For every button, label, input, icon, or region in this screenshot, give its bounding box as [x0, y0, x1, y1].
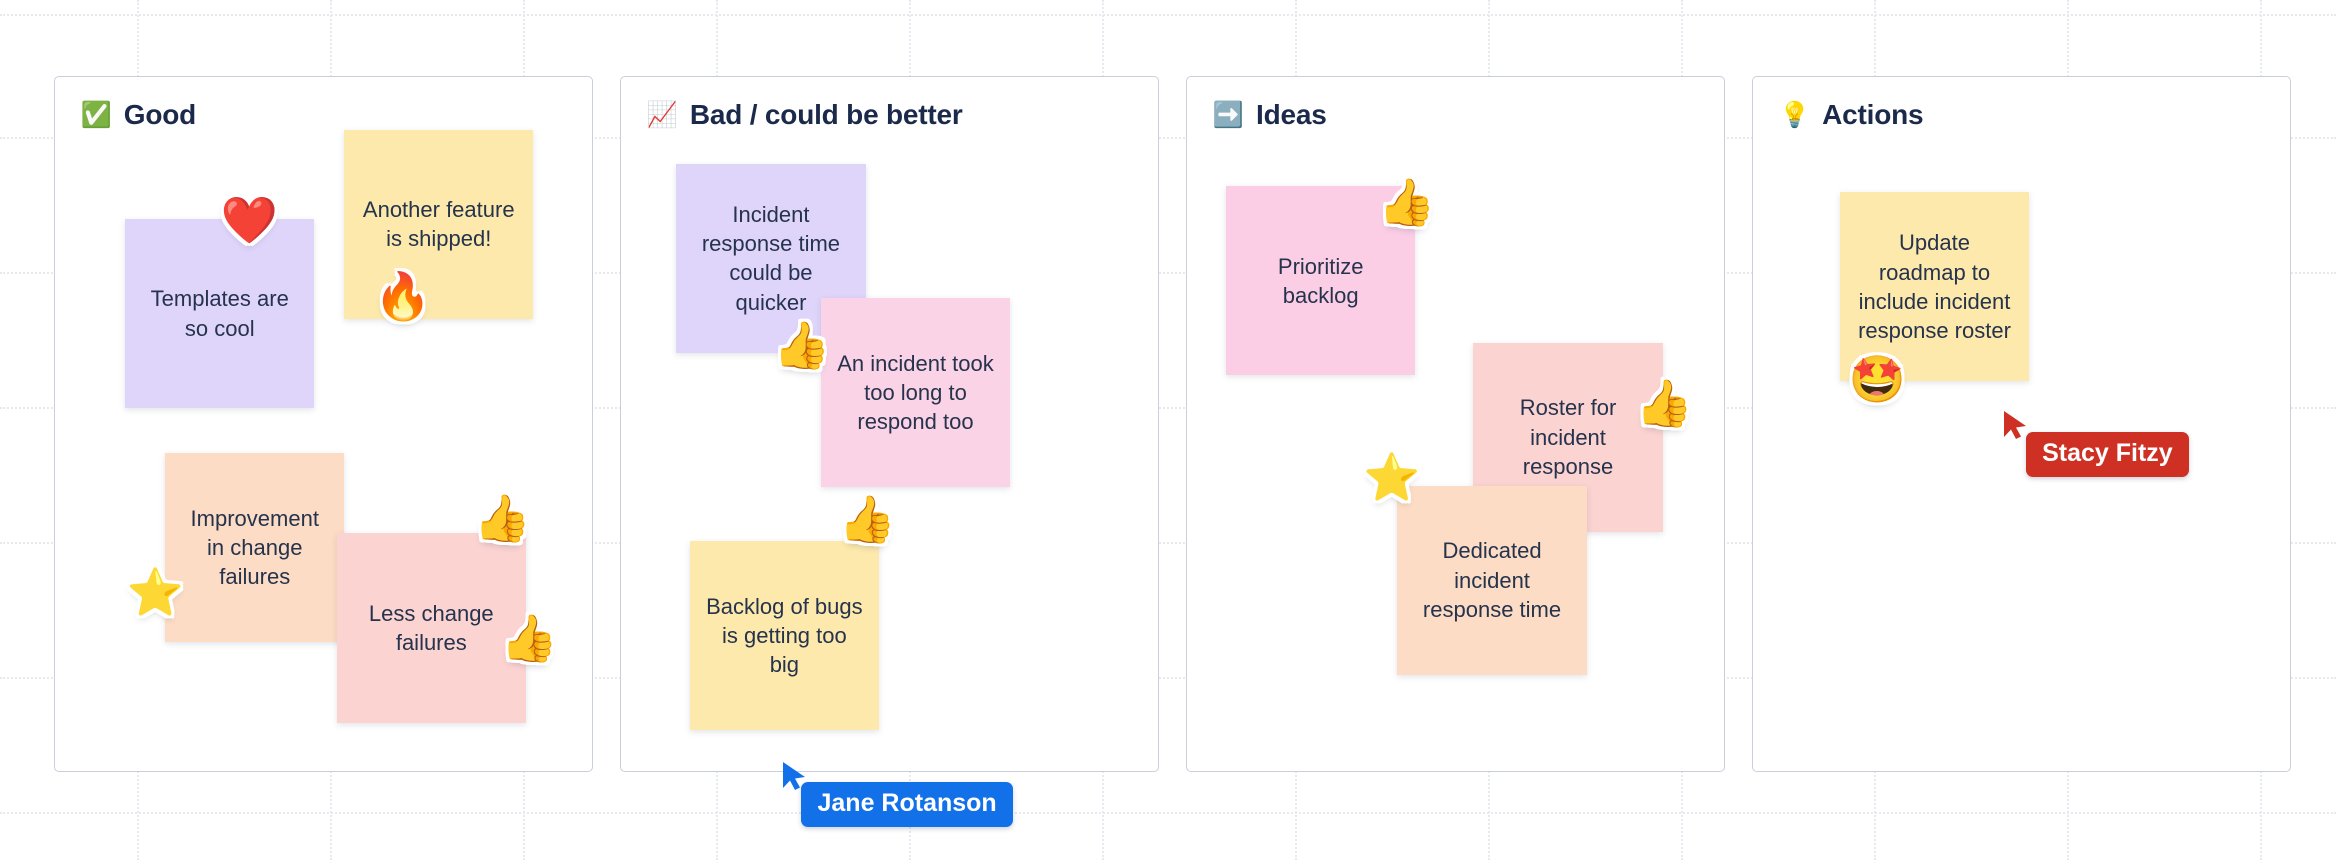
- star-icon[interactable]: ⭐: [1363, 454, 1420, 500]
- chart-increasing-icon: 📈: [647, 103, 678, 128]
- sticky-note-text: Less change failures: [353, 599, 510, 658]
- column-title-good: Good: [124, 99, 196, 131]
- white-check-mark-icon: ✅: [81, 103, 112, 128]
- right-arrow-icon: ➡️: [1213, 103, 1244, 128]
- column-title-bad: Bad / could be better: [690, 99, 963, 131]
- light-bulb-icon: 💡: [1779, 103, 1810, 128]
- star-struck-icon[interactable]: 🤩: [1849, 356, 1906, 402]
- retrospective-board[interactable]: ✅Good📈Bad / could be better➡️Ideas💡Actio…: [0, 0, 2336, 860]
- grid-line-horizontal-0: [0, 14, 2336, 16]
- sticky-note-text: Update roadmap to include incident respo…: [1856, 228, 2013, 345]
- sticky-note-less-change-failures[interactable]: Less change failures: [337, 533, 526, 722]
- thumbs-up-icon[interactable]: 👍: [839, 496, 896, 542]
- column-header-good: ✅Good: [81, 99, 196, 131]
- thumbs-up-icon[interactable]: 👍: [474, 495, 531, 541]
- sticky-note-text: Dedicated incident response time: [1413, 536, 1570, 624]
- column-header-ideas: ➡️Ideas: [1213, 99, 1327, 131]
- star-icon[interactable]: ⭐: [127, 569, 184, 615]
- sticky-note-text: Another feature is shipped!: [360, 195, 517, 254]
- thumbs-up-icon[interactable]: 👍: [1636, 380, 1693, 426]
- sticky-note-text: Templates are so cool: [141, 284, 298, 343]
- sticky-note-another-feature-is-shipped[interactable]: Another feature is shipped!: [344, 130, 533, 319]
- sticky-note-backlog-of-bugs-is-getting-too-big[interactable]: Backlog of bugs is getting too big: [690, 541, 879, 730]
- sticky-note-improvement-in-change-failures[interactable]: Improvement in change failures: [165, 453, 344, 642]
- fire-icon[interactable]: 🔥: [374, 273, 431, 319]
- collaborator-name-label: Jane Rotanson: [801, 782, 1012, 827]
- column-header-bad: 📈Bad / could be better: [647, 99, 963, 131]
- column-header-actions: 💡Actions: [1779, 99, 1923, 131]
- sticky-note-an-incident-took-too-long-to-respond-too[interactable]: An incident took too long to respond too: [821, 298, 1010, 487]
- grid-line-horizontal-6: [0, 812, 2336, 814]
- sticky-note-text: Improvement in change failures: [181, 504, 328, 592]
- column-title-ideas: Ideas: [1256, 99, 1327, 131]
- column-title-actions: Actions: [1822, 99, 1923, 131]
- collaborator-name-label: Stacy Fitzy: [2026, 432, 2189, 477]
- thumbs-up-icon[interactable]: 👍: [501, 615, 558, 661]
- sticky-note-templates-are-so-cool[interactable]: Templates are so cool: [125, 219, 314, 408]
- thumbs-up-icon[interactable]: 👍: [773, 322, 830, 368]
- sticky-note-text: An incident took too long to respond too: [837, 349, 994, 437]
- sticky-note-text: Backlog of bugs is getting too big: [706, 592, 863, 680]
- cursor-pointer-icon: [2002, 410, 2028, 440]
- sticky-note-dedicated-incident-response-time[interactable]: Dedicated incident response time: [1397, 486, 1586, 675]
- sticky-note-text: Roster for incident response: [1489, 393, 1646, 481]
- sticky-note-text: Prioritize backlog: [1242, 252, 1399, 311]
- thumbs-up-icon[interactable]: 👍: [1378, 179, 1435, 225]
- red-heart-icon[interactable]: ❤️: [220, 197, 277, 243]
